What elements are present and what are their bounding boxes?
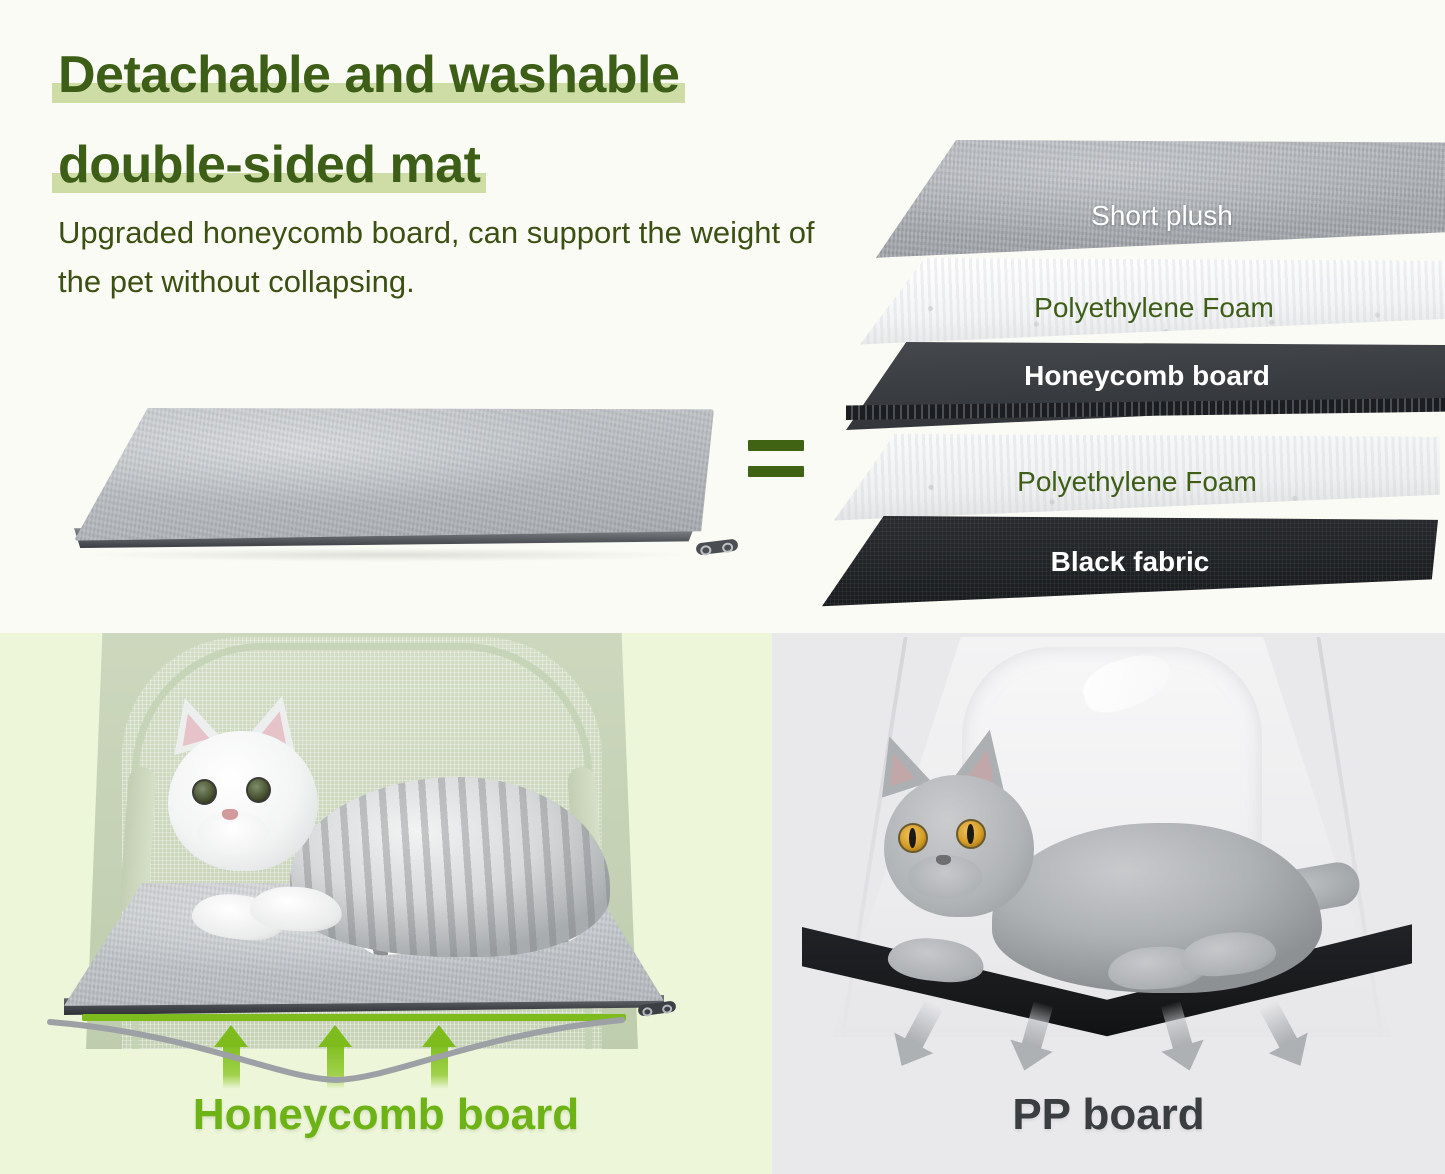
cat-b-pupil-left [909, 828, 916, 848]
layer-foam-bottom-label: Polyethylene Foam [834, 466, 1440, 498]
title-line-1: Detachable and washable [58, 38, 679, 112]
assembled-mat-illustration [14, 398, 774, 588]
title-line-2-row: double-sided mat [58, 128, 878, 202]
layer-foam-top-label: Polyethylene Foam [860, 292, 1445, 324]
zipper-pull-icon [686, 538, 740, 558]
layer-honeycomb-label: Honeycomb board [846, 360, 1445, 392]
equals-sign-icon [748, 440, 808, 480]
infographic-root: Detachable and washable double-sided mat… [0, 0, 1445, 1174]
cat-b-front-paw [886, 934, 986, 986]
title-line-1-text: Detachable and washable [58, 46, 679, 104]
mat-slab [74, 408, 714, 558]
equals-bar-top [748, 440, 804, 451]
layer-black-fabric: Black fabric [822, 516, 1438, 612]
sagging-support-curve [46, 1014, 626, 1084]
title-line-2: double-sided mat [58, 128, 480, 202]
layer-honeycomb-face [846, 342, 1445, 442]
caption-honeycomb-board: Honeycomb board [0, 1090, 772, 1140]
mat-fur-texture [74, 408, 714, 542]
equals-bar-bottom [748, 466, 804, 477]
sag-curve-path [50, 1020, 622, 1080]
layer-short-plush-label: Short plush [876, 200, 1445, 232]
layer-black-fabric-label: Black fabric [822, 546, 1438, 578]
title-line-1-row: Detachable and washable [58, 38, 878, 112]
title-line-2-text: double-sided mat [58, 136, 480, 194]
layer-short-plush: Short plush [876, 140, 1445, 268]
layer-polyethylene-foam-bottom: Polyethylene Foam [834, 434, 1440, 526]
page-title: Detachable and washable double-sided mat [58, 38, 878, 202]
layer-honeycomb-board: Honeycomb board [846, 342, 1445, 442]
top-section: Detachable and washable double-sided mat… [0, 0, 1445, 633]
layer-stack-diagram: Short plush Polyethylene Foam Honeycomb … [848, 140, 1445, 570]
cat-b-nose [936, 855, 951, 865]
subtitle-text: Upgraded honeycomb board, can support th… [58, 208, 818, 306]
caption-pp-board: PP board [772, 1090, 1445, 1140]
zipper-tab [695, 538, 738, 555]
cat-b-pupil-right [967, 824, 974, 844]
layer-polyethylene-foam-top: Polyethylene Foam [860, 258, 1445, 350]
mat-plush-surface [74, 408, 714, 542]
gray-cat [862, 733, 1332, 1033]
